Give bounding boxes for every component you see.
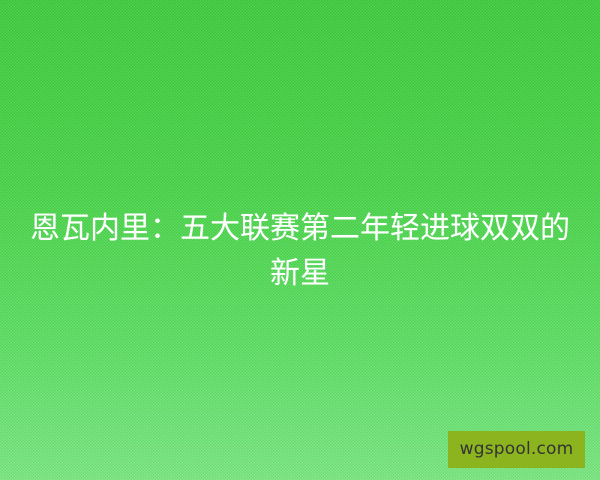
watermark-text: wgspool.com (460, 441, 574, 458)
headline-title: 恩瓦内里：五大联赛第二年轻进球双双的新星 (28, 206, 572, 296)
image-canvas: 恩瓦内里：五大联赛第二年轻进球双双的新星 wgspool.com (0, 0, 600, 480)
watermark-badge: wgspool.com (448, 431, 585, 468)
